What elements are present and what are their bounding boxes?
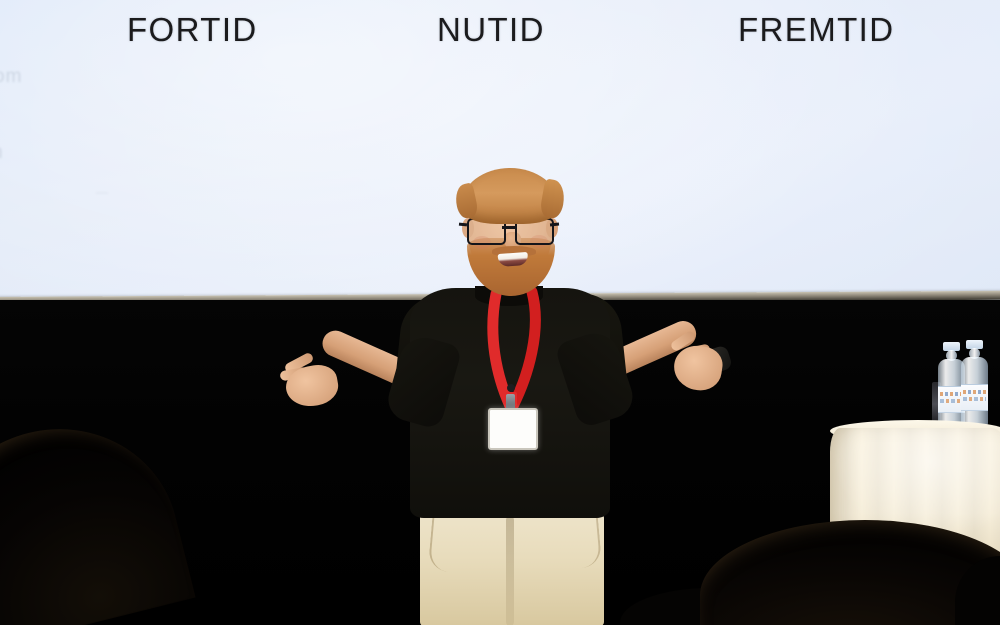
slide-heading-future: FREMTID bbox=[738, 11, 894, 49]
slide-heading-row: FORTID NUTID FREMTID bbox=[0, 0, 1000, 60]
trouser-pocket-left bbox=[428, 516, 477, 574]
slide-ghost-mark-1: om bbox=[0, 66, 22, 88]
slide-heading-past: FORTID bbox=[127, 11, 258, 49]
speaker-name-badge bbox=[488, 408, 538, 450]
speaker-figure bbox=[270, 170, 790, 625]
eyeglass-temple-left bbox=[459, 223, 467, 226]
bottle-label bbox=[961, 384, 988, 411]
slide-ghost-mark-4: — bbox=[96, 185, 109, 199]
conference-photo-scene: om - h — FORTID NUTID FREMTID bbox=[0, 0, 1000, 625]
slide-ghost-mark-3: h bbox=[0, 142, 4, 164]
eyeglass-bridge bbox=[502, 226, 515, 229]
eyeglass-temple-right bbox=[550, 223, 559, 227]
slide-heading-present: NUTID bbox=[437, 11, 545, 49]
